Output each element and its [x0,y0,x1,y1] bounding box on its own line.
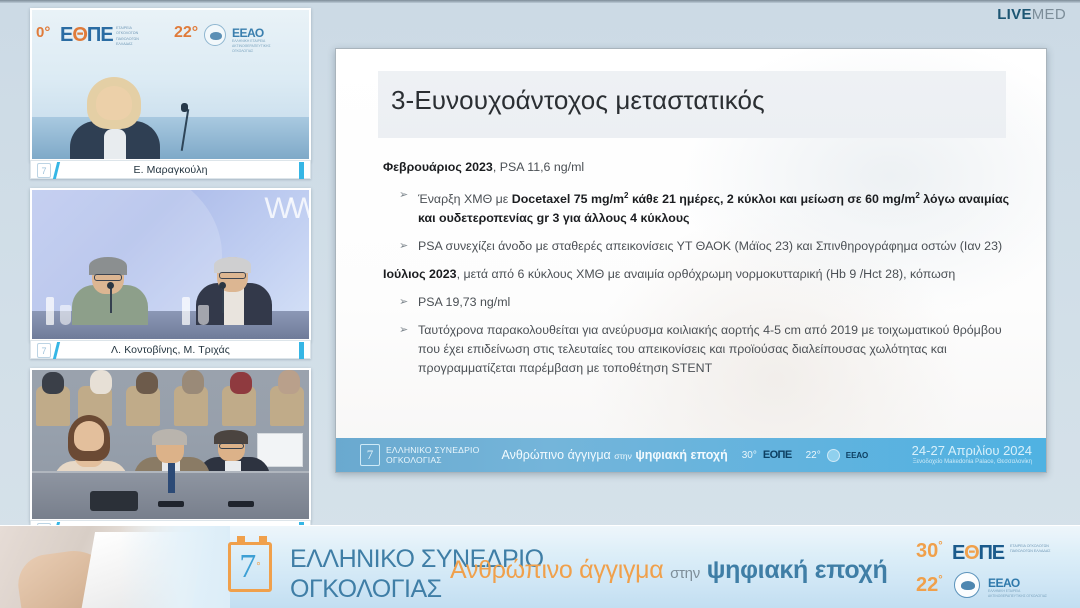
backdrop-logo-22-icon: 22° [174,24,198,42]
slide-footer-eope-icon: ΕΟΠΕ [763,449,792,461]
table-microphone-head-1 [107,282,114,289]
backdrop-logo-30-icon: 0° [36,24,50,41]
slide-footer-date-block: 24-27 Απριλίου 2024 Ξενοδοχείο Makedonia… [912,444,1032,467]
slide-footer-slogan: Ανθρώπινο άγγιγμα στην ψηφιακή εποχή [501,448,727,462]
bullet-arrow-icon: ➢ [399,186,418,228]
panelist-2-hair-shape [214,257,251,273]
slide-bullet-item: ➢Έναρξη ΧΜΘ με Docetaxel 75 mg/m2 κάθε 2… [383,186,1013,228]
audience-person-shape [182,370,204,394]
congress-badge-icon-1: 7 [37,163,51,178]
banner-logo-30-text: 30 [916,540,938,562]
slide-footer-logo-30-icon: 30° [742,450,757,461]
slide-footer-logo-22-icon: 22° [806,450,821,461]
bullet-arrow-icon: ➢ [399,321,418,378]
audience-person-shape [42,372,64,394]
panelist-1-glasses-icon [94,274,122,281]
slide-footer-slogan-a: Ανθρώπινο άγγιγμα [501,448,610,462]
app-root: LIVEMED 0° ΕΘΠΕ ΕΤΑΙΡΕΙΑ ΟΓΚΟΛΟΓΩΝ ΠΑΘΟΛ… [0,0,1080,608]
slide-bullet-item: ➢PSA συνεχίζει άνοδο με σταθερές απεικον… [383,237,1013,256]
panelist-2-glasses-icon [219,272,246,279]
page-bottom-banner: 7° ΕΛΛΗΝΙΚΟ ΣΥΝΕΔΡΙΟ ΟΓΚΟΛΟΓΙΑΣ Ανθρώπιν… [0,525,1080,608]
slide-footer-seal-icon [827,449,840,462]
banner-eope-logo-icon: ΕΘΠΕ [952,542,1004,565]
video-thumbnail-2[interactable]: WW [30,188,311,341]
phone-on-desk-icon [158,501,184,507]
audience-person-shape [90,370,112,394]
slide-footer-banner: 7 ΕΛΛΗΝΙΚΟ ΣΥΝΕΔΡΙΟ ΟΓΚΟΛΟΓΙΑΣ Ανθρώπινο… [336,438,1046,472]
slide-title-box: 3-Ευνουχοάντοχος μεταστατικός [378,71,1006,138]
banner-logo-22-text: 22 [916,574,938,596]
banner-eope-subtext: ΕΤΑΙΡΕΙΑ ΟΓΚΟΛΟΓΩΝ ΠΑΘΟΛΟΓΩΝ ΕΛΛΑΔΑΣ [1010,544,1056,554]
banner-logo-30-icon: 30° [916,540,943,563]
slide-paragraph: Φεβρουάριος 2023, PSA 11,6 ng/ml [383,158,1013,177]
front-person-3-hair-shape [214,430,248,444]
video-caption-1: 7 Ε. Μαραγκούλη [30,160,311,179]
slide-footer-venue: Ξενοδοχείο Makedonia Palace, Θεσσαλονίκη [912,458,1032,467]
banner-eeao-subtext: ΕΛΛΗΝΙΚΗ ΕΤΑΙΡΕΙΑ ΑΚΤΙΝΟΘΕΡΑΠΕΥΤΙΚΗΣ ΟΓΚ… [988,589,1050,599]
panelist-1-hair-shape [89,257,127,275]
banner-seal-icon [954,572,980,598]
slide-footer-logos: 30° ΕΟΠΕ 22° ΕΕΑΟ [742,449,869,462]
banner-number-7: 7 [239,550,256,584]
slide-paragraph-text: , PSA 11,6 ng/ml [493,160,584,174]
video-card-1[interactable]: 0° ΕΘΠΕ ΕΤΑΙΡΕΙΑ ΟΓΚΟΛΟΓΩΝ ΠΑΘΟΛΟΓΩΝ ΕΛΛ… [30,8,311,179]
audience-person-shape [136,372,158,394]
slide-paragraph-text: , μετά από 6 κύκλους ΧΜΘ με αναιμία ορθό… [457,267,956,281]
caption-accent-bar-right-2 [299,342,304,359]
table-microphone-icon-1 [110,287,112,313]
slide-bullet-text: PSA 19,73 ng/ml [418,293,510,312]
banner-slogan-b: στην [670,565,700,582]
caption-accent-bar-left-1 [53,162,60,179]
slide-bullet-text: Έναρξη ΧΜΘ με Docetaxel 75 mg/m2 κάθε 21… [418,186,1013,228]
backdrop-eope-subtext: ΕΤΑΙΡΕΙΑ ΟΓΚΟΛΟΓΩΝ ΠΑΘΟΛΟΓΩΝ ΕΛΛΑΔΑΣ [116,26,154,48]
slide-footer-slogan-b: στην [614,451,632,461]
bullet-text-segment: PSA συνεχίζει άνοδο με σταθερές απεικονί… [418,239,1002,253]
caption-accent-bar-left-2 [53,342,60,359]
table-microphone-icon-2 [222,287,224,313]
livemed-med-text: MED [1032,6,1066,23]
top-divider [0,0,1080,3]
banner-eeao-logo-icon: ΕΕΑΟ [988,576,1020,590]
front-person-2-hair-shape [152,429,187,445]
equipment-case-icon [90,491,138,511]
water-glass-icon-2 [198,305,209,325]
livemed-live-text: LIVE [997,6,1032,23]
slide-paragraph-bold: Φεβρουάριος 2023 [383,160,493,174]
slide-bullet-item: ➢Ταυτόχρονα παρακολουθείται για ανεύρυσμ… [383,321,1013,378]
audience-person-shape [230,372,252,394]
video-caption-2: 7 Λ. Κοντοβίνης, Μ. Τριχάς [30,340,311,359]
backdrop-eope-logo-icon: ΕΘΠΕ [60,24,113,47]
water-bottle-icon-2 [182,297,190,325]
bullet-text-segment: Έναρξη ΧΜΘ με [418,192,512,206]
banner-logo-group: 30° ΕΘΠΕ ΕΤΑΙΡΕΙΑ ΟΓΚΟΛΟΓΩΝ ΠΑΘΟΛΟΓΩΝ ΕΛ… [916,536,1066,602]
speaker-name-2: Λ. Κοντοβίνης, Μ. Τριχάς [111,344,230,356]
slide-bullet-text: PSA συνεχίζει άνοδο με σταθερές απεικονί… [418,237,1002,256]
slide-footer-congress-name: ΕΛΛΗΝΙΚΟ ΣΥΝΕΔΡΙΟ ΟΓΚΟΛΟΓΙΑΣ [386,445,479,465]
backdrop-logos-1: 0° ΕΘΠΕ ΕΤΑΙΡΕΙΑ ΟΓΚΟΛΟΓΩΝ ΠΑΘΟΛΟΓΩΝ ΕΛΛ… [32,14,309,60]
backdrop-eeao-subtext: ΕΛΛΗΝΙΚΗ ΕΤΑΙΡΕΙΑ ΑΚΤΙΝΟΘΕΡΑΠΕΥΤΙΚΗΣ ΟΓΚ… [232,39,288,54]
video-thumbnail-column: 0° ΕΘΠΕ ΕΤΑΙΡΕΙΑ ΟΓΚΟΛΟΓΩΝ ΠΑΘΟΛΟΓΩΝ ΕΛΛ… [30,8,311,548]
front-person-3-glasses-icon [219,443,244,449]
audience-person-shape [278,370,300,394]
slide-bullet-text: Ταυτόχρονα παρακολουθείται για ανεύρυσμα… [418,321,1013,378]
presentation-slide[interactable]: 3-Ευνουχοάντοχος μεταστατικός Φεβρουάριο… [335,48,1047,473]
banner-logo-22-icon: 22° [916,574,943,597]
banner-slogan-a: Ανθρώπινο άγγιγμα [450,556,663,584]
phone-on-desk-icon-2 [228,501,254,507]
slide-footer-congress-line2: ΟΓΚΟΛΟΓΙΑΣ [386,455,479,465]
video-watermark-text: WW [264,194,311,224]
banner-slogan: Ανθρώπινο άγγιγμα στην ψηφιακή εποχή [450,556,887,585]
banner-congress-number-icon: 7° [228,542,272,592]
banner-number-degree: ° [256,561,260,573]
banner-logo-22-degree: ° [938,574,942,586]
congress-badge-icon-2: 7 [37,343,51,358]
slide-paragraph-bold: Ιούλιος 2023 [383,267,457,281]
speaker-head-shape [87,77,141,129]
bullet-text-segment: Ταυτόχρονα παρακολουθείται για ανεύρυσμα… [418,323,1002,375]
slide-footer-date: 24-27 Απριλίου 2024 [912,444,1032,458]
banner-logo-30-degree: ° [938,540,942,552]
front-person-1-hair-shape [68,415,110,461]
microphone-head-icon [181,103,188,112]
bullet-text-segment: κάθε 21 ημέρες, 2 κύκλοι και μείωση σε 6… [629,192,916,206]
banner-photo-fade [120,526,230,608]
slide-bullet-item: ➢PSA 19,73 ng/ml [383,293,1013,312]
water-bottle-icon-1 [46,297,54,325]
backdrop-eeao-logo-icon: ΕΕΑΟ [232,26,264,40]
bullet-text-segment: Docetaxel 75 mg/m [512,192,624,206]
backdrop-seal-icon [204,24,226,46]
water-glass-icon-1 [60,305,71,325]
bullet-arrow-icon: ➢ [399,237,418,256]
bullet-arrow-icon: ➢ [399,293,418,312]
slide-paragraph: Ιούλιος 2023, μετά από 6 κύκλους ΧΜΘ με … [383,265,1013,284]
livemed-logo: LIVEMED [997,7,1066,22]
slide-footer-eeao-icon: ΕΕΑΟ [846,451,868,460]
video-thumbnail-1[interactable]: 0° ΕΘΠΕ ΕΤΑΙΡΕΙΑ ΟΓΚΟΛΟΓΩΝ ΠΑΘΟΛΟΓΩΝ ΕΛΛ… [30,8,311,161]
video-card-2[interactable]: WW 7 Λ. [30,188,311,359]
banner-slogan-c: ψηφιακή εποχή [707,556,888,584]
slide-title: 3-Ευνουχοάντοχος μεταστατικός [391,85,765,116]
slide-footer-number-icon: 7 [360,444,380,466]
video-thumbnail-3[interactable] [30,368,311,521]
slide-footer-slogan-c: ψηφιακή εποχή [635,448,727,462]
slide-footer-congress-line1: ΕΛΛΗΝΙΚΟ ΣΥΝΕΔΡΙΟ [386,445,479,455]
speaker-name-1: Ε. Μαραγκούλη [133,164,207,176]
slide-body: Φεβρουάριος 2023, PSA 11,6 ng/ml➢Έναρξη … [383,149,1013,378]
video-card-3[interactable]: 7 Δ. Δαλιάνη, Δ. Παντολέων, Μ. Τσιατάς [30,368,311,539]
caption-accent-bar-right-1 [299,162,304,179]
bullet-text-segment: PSA 19,73 ng/ml [418,295,510,309]
table-microphone-head-2 [219,282,226,289]
